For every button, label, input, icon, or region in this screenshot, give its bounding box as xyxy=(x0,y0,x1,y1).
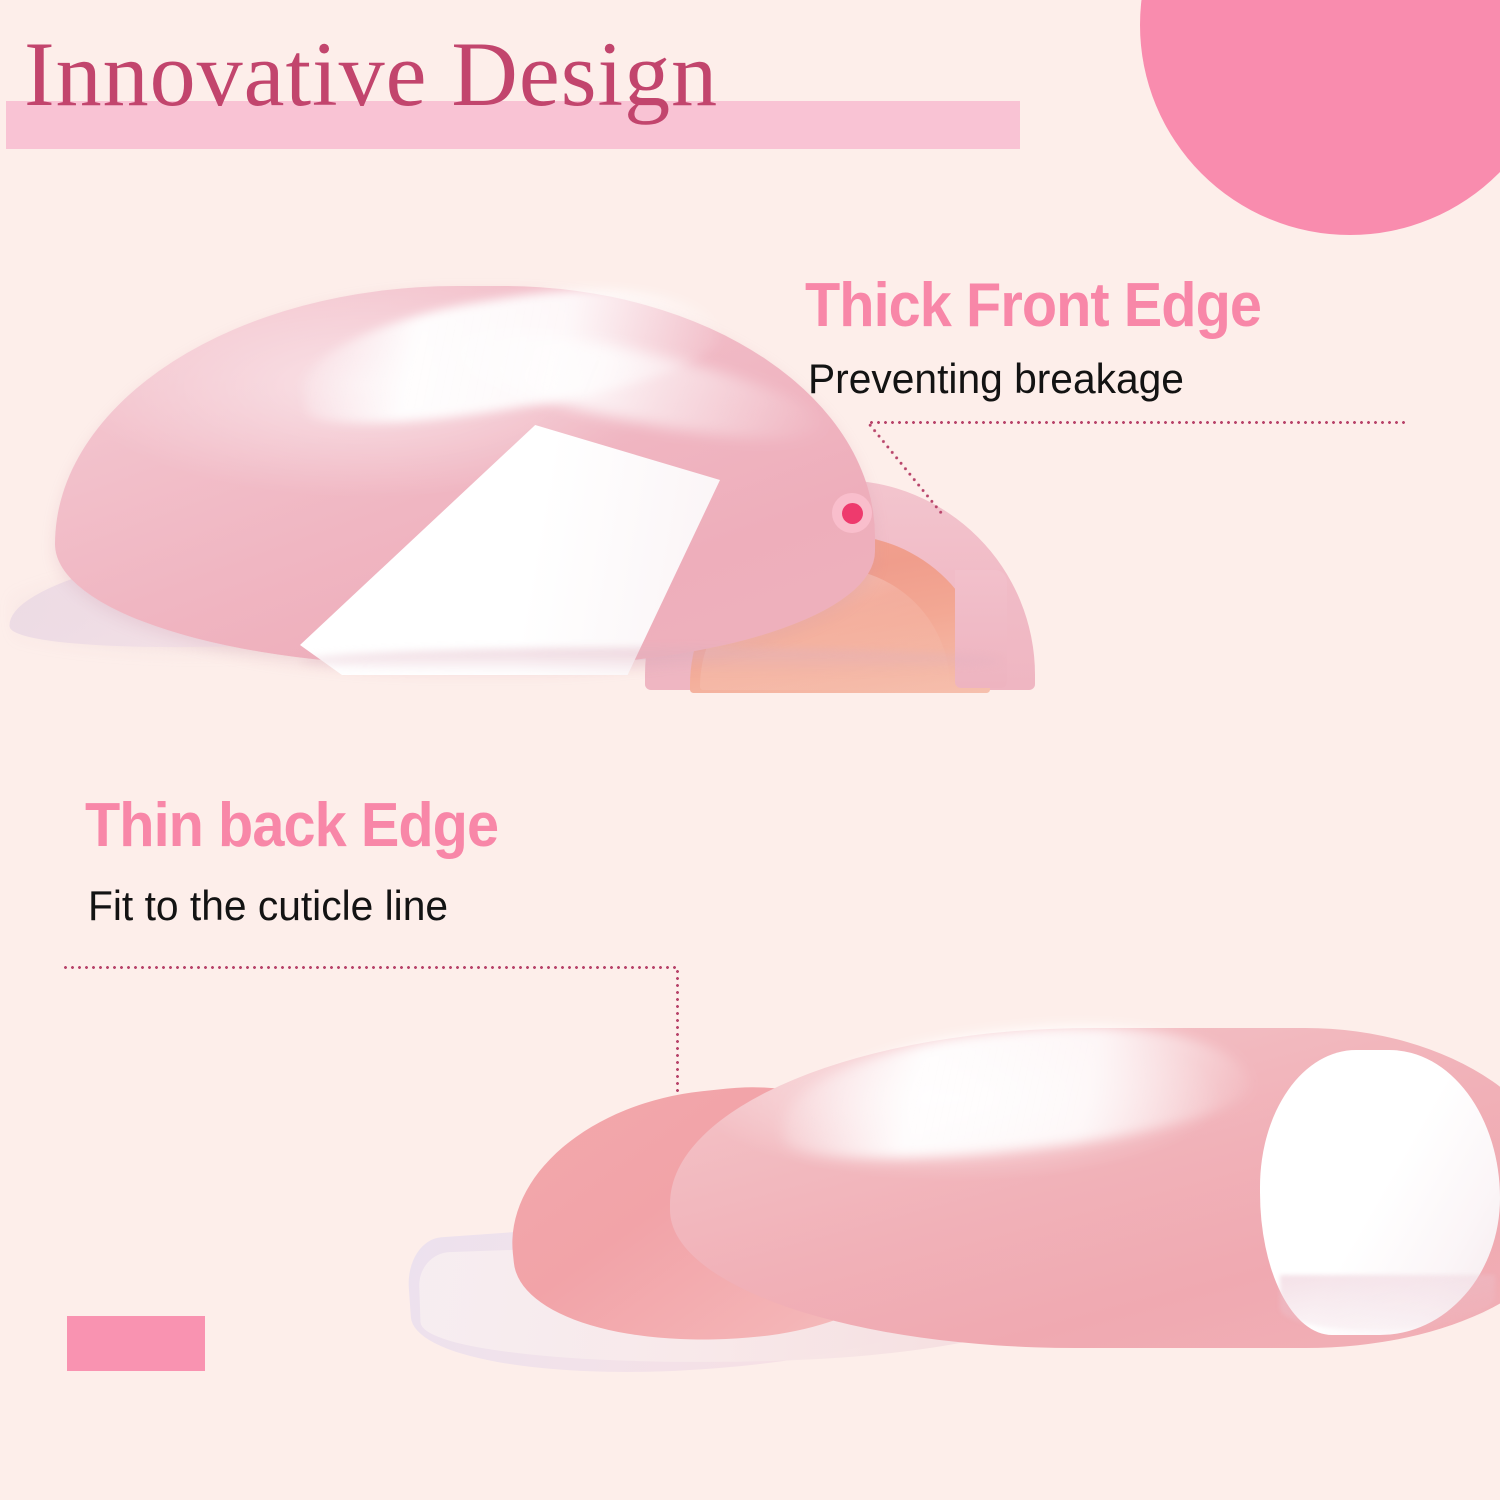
feature-subtext-preventing-breakage: Preventing breakage xyxy=(808,355,1184,403)
thick-front-edge-marker xyxy=(832,493,872,533)
corner-blob-decoration xyxy=(1140,0,1500,235)
page-title: Innovative Design xyxy=(24,22,718,126)
feature-subtext-cuticle-line: Fit to the cuticle line xyxy=(88,882,448,930)
pink-color-swatch xyxy=(67,1316,205,1371)
infographic-canvas: Innovative Design Thick Front Edge Preve… xyxy=(0,0,1500,1500)
nail-almond-illustration xyxy=(400,1020,1500,1360)
callout-line-horizontal-back-edge xyxy=(62,966,679,969)
page-title-block: Innovative Design xyxy=(0,22,1060,142)
feature-heading-thick-front-edge: Thick Front Edge xyxy=(805,272,1261,340)
callout-line-horizontal-front-edge xyxy=(868,421,1405,424)
nail-side-profile-illustration xyxy=(0,280,1030,680)
nail-base-contact-shadow xyxy=(300,648,1000,674)
nail-tip-edge-shadow xyxy=(1280,1275,1495,1330)
feature-heading-thin-back-edge: Thin back Edge xyxy=(85,792,498,860)
nail-front-edge-rim xyxy=(955,570,1007,688)
